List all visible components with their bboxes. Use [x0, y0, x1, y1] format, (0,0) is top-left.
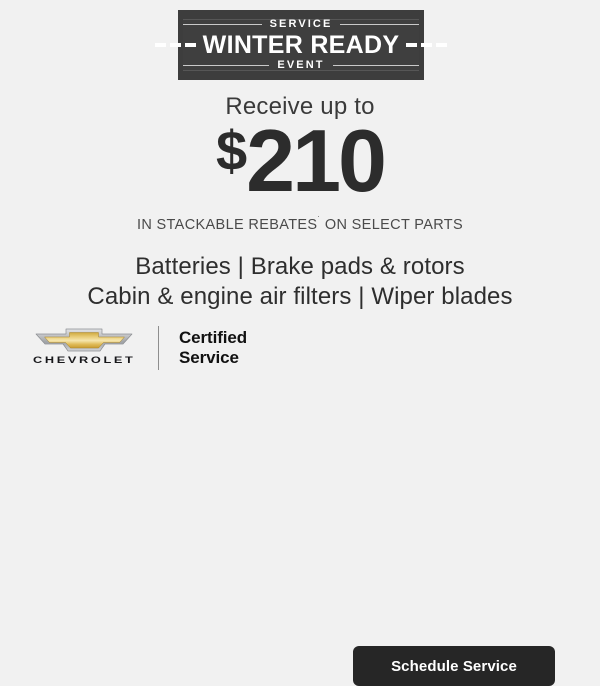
banner-rule-bottom-left [183, 65, 269, 66]
banner-dashes-left-icon [148, 43, 203, 47]
banner-title-row: WINTER READY [183, 32, 419, 57]
winter-ready-event-banner: SERVICE WINTER READY EVENT [178, 10, 424, 80]
chevrolet-wordmark: CHEVROLET [33, 356, 136, 365]
chevrolet-bowtie-icon [30, 327, 138, 353]
lockup-divider [158, 326, 159, 370]
eligible-parts-line-1: Batteries | Brake pads & rotors [0, 252, 600, 282]
banner-title: WINTER READY [203, 33, 400, 58]
chevrolet-certified-service-lockup: CHEVROLET Certified Service [28, 318, 247, 378]
offer-subline: IN STACKABLE REBATES˙ ON SELECT PARTS [0, 216, 600, 232]
schedule-service-button[interactable]: Schedule Service [353, 646, 555, 686]
banner-rule-left [183, 24, 262, 25]
chevrolet-brand-block: CHEVROLET [28, 327, 140, 369]
banner-kicker-bottom-row: EVENT [183, 58, 419, 73]
offer-amount-value: 210 [246, 111, 384, 210]
banner-kicker-top: SERVICE [262, 19, 341, 30]
banner-kicker-bottom: EVENT [269, 60, 332, 71]
certified-service-line-1: Certified [179, 328, 247, 348]
eligible-parts-list: Batteries | Brake pads & rotors Cabin & … [0, 252, 600, 312]
eligible-parts-line-2: Cabin & engine air filters | Wiper blade… [0, 282, 600, 312]
offer-subline-text: IN STACKABLE REBATES [137, 217, 318, 233]
advertisement-canvas: SERVICE WINTER READY EVENT Receive up to… [0, 0, 600, 400]
offer-amount: $210 [0, 117, 600, 205]
certified-service-label: Certified Service [179, 328, 247, 368]
offer-subline-rest: ON SELECT PARTS [320, 217, 463, 233]
banner-rule-bottom-right [333, 65, 419, 66]
banner-dashes-right-icon [399, 43, 454, 47]
footer: CHEVROLET Certified Service Schedule Ser… [0, 318, 600, 380]
banner-rule-right [340, 24, 419, 25]
offer-currency-symbol: $ [216, 119, 246, 182]
certified-service-line-2: Service [179, 348, 247, 368]
